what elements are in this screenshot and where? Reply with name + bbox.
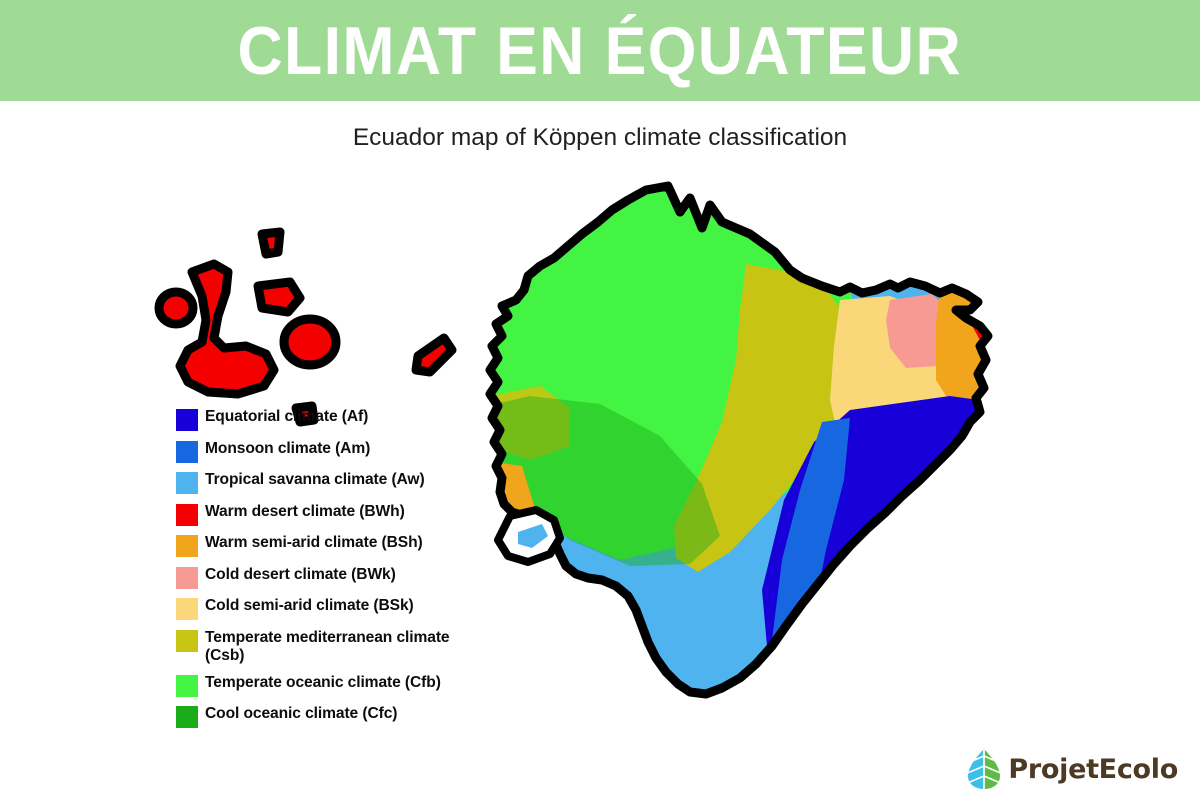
projetecolo-logo[interactable]: ProjetEcolo (967, 748, 1178, 790)
legend-label-bwh: Warm desert climate (BWh) (205, 503, 405, 521)
legend-swatch-am (176, 441, 198, 463)
legend-item-cfb[interactable]: Temperate oceanic climate (Cfb) (176, 674, 506, 697)
legend-item-af[interactable]: Equatorial climate (Af) (176, 408, 506, 431)
legend-swatch-cfc (176, 706, 198, 728)
legend-label-am: Monsoon climate (Am) (205, 440, 370, 458)
legend-label-cfb: Temperate oceanic climate (Cfb) (205, 674, 441, 692)
island-pinta (262, 232, 280, 254)
island-santa-cruz (284, 319, 336, 365)
climate-legend: Equatorial climate (Af) Monsoon climate … (176, 408, 506, 737)
legend-item-cfc[interactable]: Cool oceanic climate (Cfc) (176, 705, 506, 728)
legend-swatch-cfb (176, 675, 198, 697)
legend-label-aw: Tropical savanna climate (Aw) (205, 471, 425, 489)
logo-wordmark: ProjetEcolo (1008, 756, 1178, 783)
legend-swatch-bwk (176, 567, 198, 589)
legend-label-bsh: Warm semi-arid climate (BSh) (205, 534, 423, 552)
header-banner: CLIMAT EN ÉQUATEUR (0, 0, 1200, 101)
legend-label-csb: Temperate mediterranean climate (Csb) (205, 629, 453, 666)
legend-swatch-af (176, 409, 198, 431)
map-subtitle: Ecuador map of Köppen climate classifica… (0, 124, 1200, 152)
island-santiago (258, 282, 300, 312)
leaf-icon (967, 748, 1001, 790)
island-san-cristobal (416, 338, 452, 372)
galapagos-islands (159, 232, 452, 422)
page-root: CLIMAT EN ÉQUATEUR Ecuador map of Köppen… (0, 0, 1200, 800)
legend-label-bwk: Cold desert climate (BWk) (205, 566, 396, 584)
legend-swatch-bsk (176, 598, 198, 620)
island-fernandina (159, 292, 193, 324)
legend-item-bwk[interactable]: Cold desert climate (BWk) (176, 566, 506, 589)
legend-label-cfc: Cool oceanic climate (Cfc) (205, 705, 397, 723)
legend-item-csb[interactable]: Temperate mediterranean climate (Csb) (176, 629, 506, 666)
legend-swatch-bwh (176, 504, 198, 526)
legend-item-bsk[interactable]: Cold semi-arid climate (BSk) (176, 597, 506, 620)
legend-item-bsh[interactable]: Warm semi-arid climate (BSh) (176, 534, 506, 557)
legend-label-af: Equatorial climate (Af) (205, 408, 368, 426)
legend-swatch-bsh (176, 535, 198, 557)
legend-label-bsk: Cold semi-arid climate (BSk) (205, 597, 414, 615)
legend-swatch-csb (176, 630, 198, 652)
page-title: CLIMAT EN ÉQUATEUR (238, 17, 963, 85)
legend-item-bwh[interactable]: Warm desert climate (BWh) (176, 503, 506, 526)
legend-swatch-aw (176, 472, 198, 494)
legend-item-aw[interactable]: Tropical savanna climate (Aw) (176, 471, 506, 494)
legend-item-am[interactable]: Monsoon climate (Am) (176, 440, 506, 463)
